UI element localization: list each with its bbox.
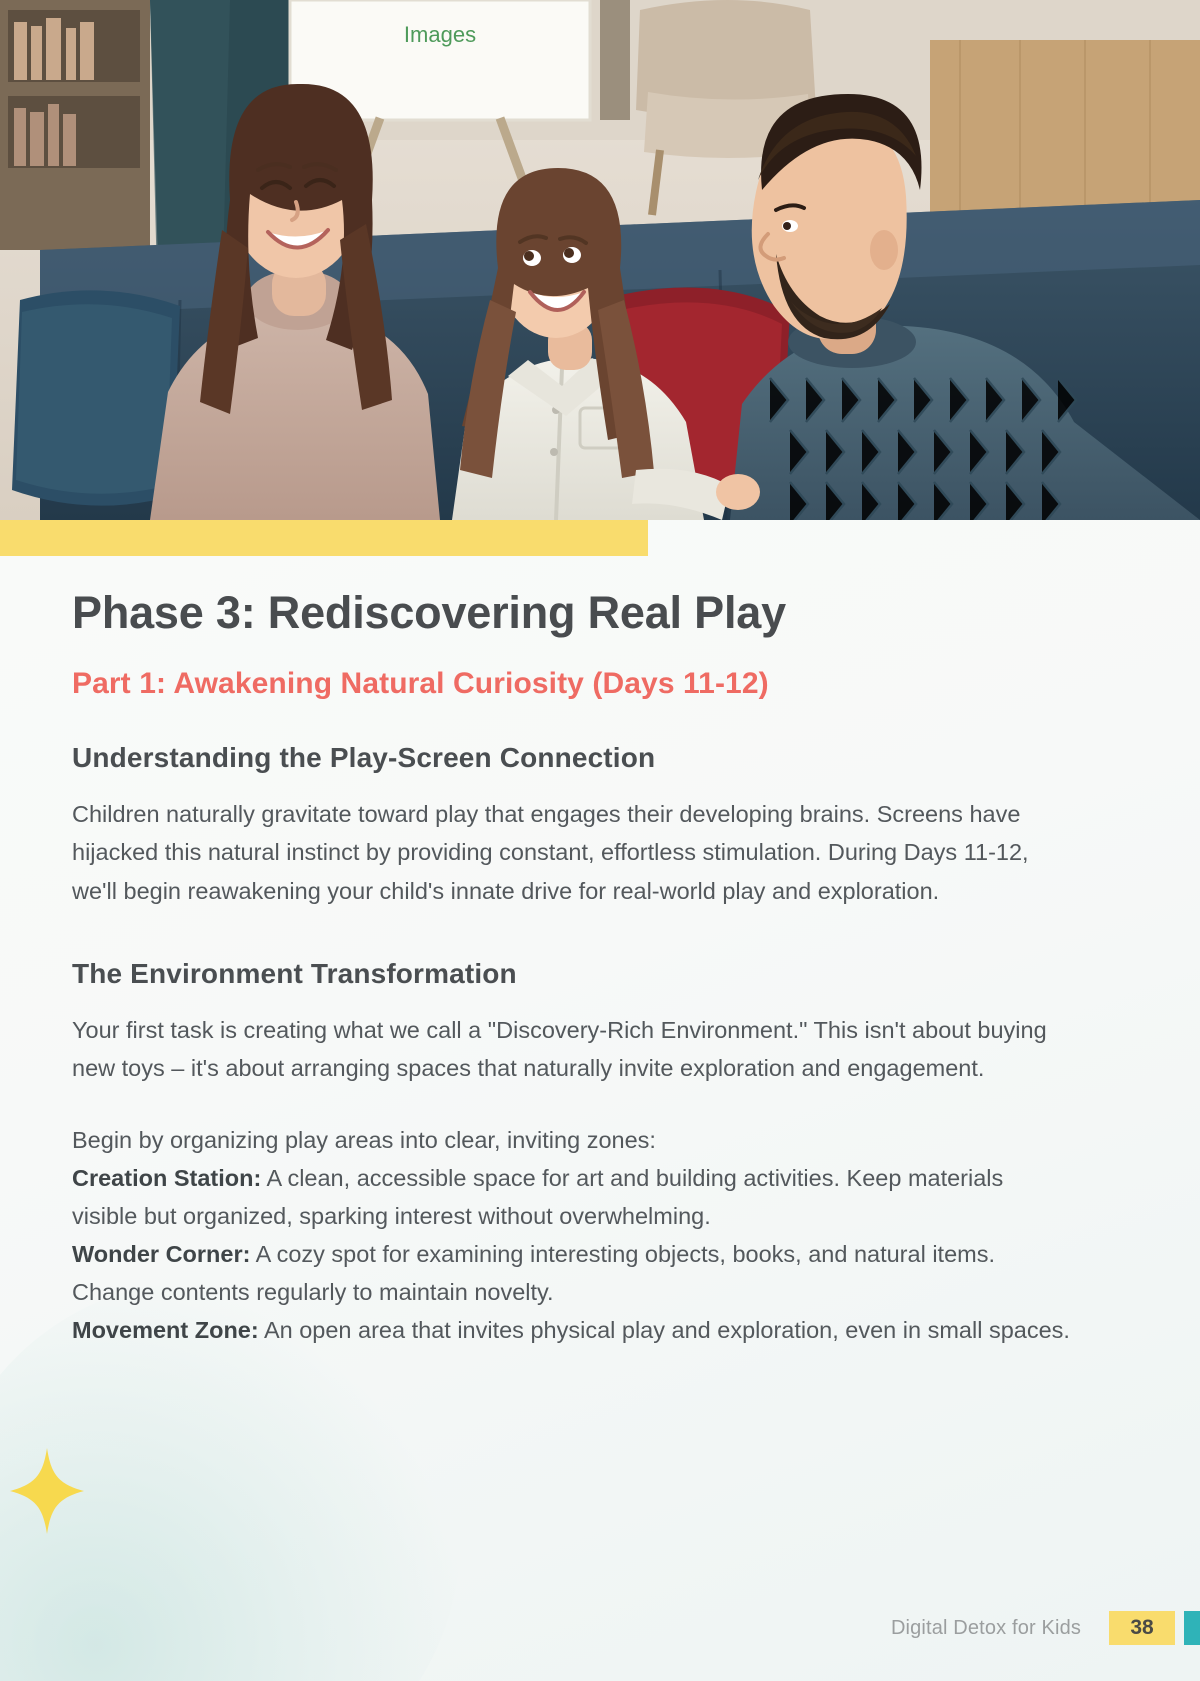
yellow-banner-bar [0, 520, 648, 556]
page-title: Phase 3: Rediscovering Real Play [72, 588, 1072, 638]
sparkle-icon [10, 1448, 84, 1534]
zone-item-movement-zone: Movement Zone: An open area that invites… [72, 1311, 1072, 1349]
zone-item-creation-station: Creation Station: A clean, accessible sp… [72, 1159, 1072, 1235]
zone-label: Movement Zone: [72, 1317, 259, 1343]
play-zones-list: Begin by organizing play areas into clea… [72, 1121, 1072, 1349]
page-content: Phase 3: Rediscovering Real Play Part 1:… [72, 588, 1072, 1349]
zones-lead-text: Begin by organizing play areas into clea… [72, 1121, 1072, 1159]
hero-illustration: Images [0, 0, 1200, 520]
section-environment-transformation: The Environment Transformation Your firs… [72, 956, 1072, 1087]
zone-item-wonder-corner: Wonder Corner: A cozy spot for examining… [72, 1235, 1072, 1311]
hero-image: Images [0, 0, 1200, 520]
page-footer: Digital Detox for Kids 38 [0, 1611, 1200, 1645]
section-heading: The Environment Transformation [72, 956, 1072, 991]
zone-label: Wonder Corner: [72, 1241, 250, 1267]
document-page: Images [0, 0, 1200, 1681]
section-body: Your first task is creating what we call… [72, 1011, 1072, 1087]
section-play-screen-connection: Understanding the Play-Screen Connection… [72, 740, 1072, 909]
page-subtitle: Part 1: Awakening Natural Curiosity (Day… [72, 666, 1072, 702]
section-heading: Understanding the Play-Screen Connection [72, 740, 1072, 775]
zone-description: An open area that invites physical play … [259, 1317, 1070, 1343]
footer-teal-accent [1184, 1611, 1200, 1645]
page-number-badge: 38 [1109, 1611, 1175, 1645]
zone-label: Creation Station: [72, 1165, 261, 1191]
footer-book-title: Digital Detox for Kids [891, 1617, 1081, 1640]
section-body: Children naturally gravitate toward play… [72, 795, 1072, 909]
